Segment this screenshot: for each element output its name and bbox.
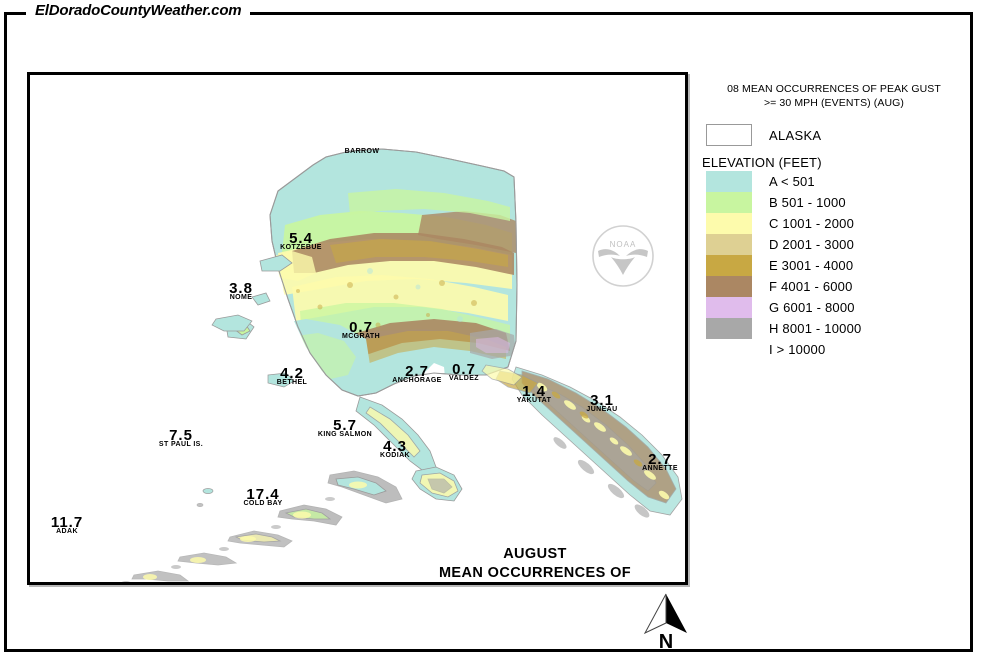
legend-elevation-label-g: G 6001 - 8000: [769, 300, 855, 315]
north-arrow-icon: [642, 592, 690, 636]
map-caption: AUGUST MEAN OCCURRENCES OF PEAK GUST >= …: [420, 545, 650, 585]
legend-panel: 08 MEAN OCCURRENCES OF PEAK GUST >= 30 M…: [700, 82, 972, 360]
legend-elevation-row-e: E 3001 - 4000: [700, 255, 972, 276]
legend-elevation-label-h: H 8001 - 10000: [769, 321, 861, 336]
legend-elevation-swatch-e: [706, 255, 752, 276]
legend-elevation-swatch-c: [706, 213, 752, 234]
legend-elevation-label-e: E 3001 - 4000: [769, 258, 853, 273]
legend-elevation-label-f: F 4001 - 6000: [769, 279, 853, 294]
legend-elevation-row-a: A < 501: [700, 171, 972, 192]
legend-area-swatch: [706, 124, 752, 146]
legend-elevation-swatch-b: [706, 192, 752, 213]
legend-elevation-swatch-f: [706, 276, 752, 297]
legend-elevation-row-f: F 4001 - 6000: [700, 276, 972, 297]
legend-elevation-swatch-g: [706, 297, 752, 318]
legend-area-row: ALASKA: [706, 124, 972, 146]
legend-elevation-label-a: A < 501: [769, 174, 815, 189]
site-title: ElDoradoCountyWeather.com: [26, 2, 250, 19]
legend-heading: 08 MEAN OCCURRENCES OF PEAK GUST >= 30 M…: [700, 82, 972, 110]
legend-elevation-row-i: I > 10000: [700, 339, 972, 360]
legend-elevation-label-i: I > 10000: [769, 342, 825, 357]
legend-elevation-row-b: B 501 - 1000: [700, 192, 972, 213]
caption-line-3: PEAK GUST >= 30 MPH: [420, 582, 650, 585]
caption-line-1: AUGUST: [420, 545, 650, 564]
legend-elevation-row-c: C 1001 - 2000: [700, 213, 972, 234]
legend-heading-line-1: 08 MEAN OCCURRENCES OF PEAK GUST: [700, 82, 968, 96]
legend-elevation-swatch-a: [706, 171, 752, 192]
legend-area-label: ALASKA: [769, 128, 821, 143]
legend-elevation-row-d: D 2001 - 3000: [700, 234, 972, 255]
legend-elevation-row-g: G 6001 - 8000: [700, 297, 972, 318]
legend-elevation-label-c: C 1001 - 2000: [769, 216, 854, 231]
legend-elevation-title: ELEVATION (FEET): [702, 155, 972, 170]
noaa-seal-text: NOAA: [610, 240, 637, 249]
legend-elevation-swatch-h: [706, 318, 752, 339]
legend-elevation-label-d: D 2001 - 3000: [769, 237, 854, 252]
legend-elevation-swatch-d: [706, 234, 752, 255]
legend-elevation-rows: A < 501B 501 - 1000C 1001 - 2000D 2001 -…: [700, 171, 972, 360]
north-arrow: N: [638, 592, 694, 656]
legend-elevation-row-h: H 8001 - 10000: [700, 318, 972, 339]
legend-elevation-label-b: B 501 - 1000: [769, 195, 846, 210]
noaa-seal-icon: NOAA: [590, 223, 656, 289]
legend-heading-line-2: >= 30 MPH (EVENTS) (AUG): [700, 96, 968, 110]
alaska-map-graphic: [30, 75, 685, 582]
caption-line-2: MEAN OCCURRENCES OF: [420, 564, 650, 583]
north-arrow-label: N: [638, 632, 694, 652]
map-canvas[interactable]: [30, 75, 685, 582]
map-frame[interactable]: NOAA BARROW5.4KOTZEBUE3.8NOME0.7MCGRATH4…: [27, 72, 688, 585]
legend-elevation-swatch-i: [706, 339, 752, 360]
